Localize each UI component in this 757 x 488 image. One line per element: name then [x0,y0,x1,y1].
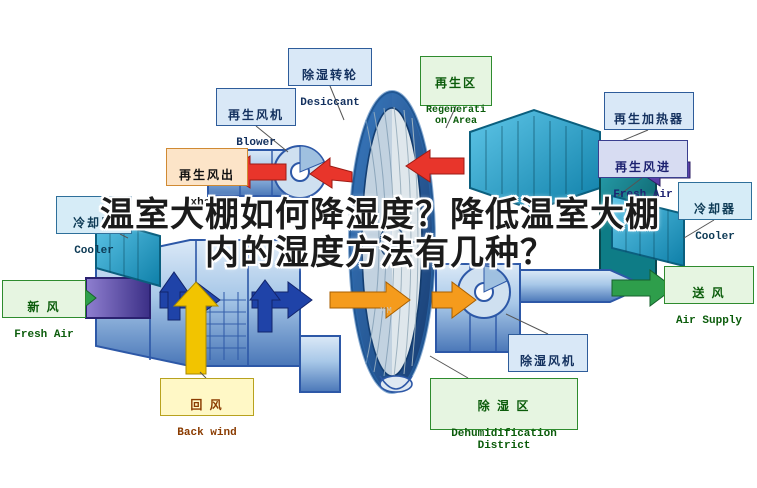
label-cooler-right-cn: 冷却器 [682,203,748,216]
label-regeneration-area: 再生区 Regenerati on Area [420,56,492,106]
label-dehumidification-district-cn: 除 湿 区 [434,400,574,413]
label-regeneration-exhaust-en: Exhaust [170,198,244,210]
label-regeneration-exhaust: 再生风出 Exhaust [166,148,248,186]
label-desiccant-wheel-en: Desiccant [292,98,368,110]
label-regeneration-heater: 再生加热器 heater [604,92,694,130]
label-regeneration-inlet-en: Fresh Air [602,190,684,202]
label-air-supply: 送 风 Air Supply [664,266,754,304]
label-air-supply-cn: 送 风 [668,287,750,300]
label-regeneration-blower: 再生风机 Blower [216,88,296,126]
label-regeneration-inlet-cn: 再生风进 [602,161,684,174]
rotor-faint-text: XM [380,306,393,316]
label-regeneration-blower-cn: 再生风机 [220,109,292,122]
diagram-canvas: XM 除湿转轮 Desiccant 再生区 Regenerati on Area… [0,0,757,488]
label-desiccant-wheel-cn: 除湿转轮 [292,69,368,82]
label-regeneration-heater-cn: 再生加热器 [608,113,690,126]
label-dehumidify-blower: 除湿风机 Blower [508,334,588,372]
label-cooler-left: 冷却器 Cooler [56,196,132,234]
label-cooler-right: 冷却器 Cooler [678,182,752,220]
label-dehumidification-district-en: Dehumidification District [434,429,574,452]
label-regeneration-area-en: Regenerati on Area [424,106,488,127]
label-back-wind: 回 风 Back wind [160,378,254,416]
label-regeneration-exhaust-cn: 再生风出 [170,169,244,182]
label-cooler-left-en: Cooler [60,246,128,258]
label-desiccant-wheel: 除湿转轮 Desiccant [288,48,372,86]
label-regeneration-area-cn: 再生区 [424,77,488,90]
label-fresh-air-cn: 新 风 [6,301,82,314]
label-regeneration-inlet: 再生风进 Fresh Air [598,140,688,178]
label-cooler-left-cn: 冷却器 [60,217,128,230]
label-back-wind-cn: 回 风 [164,399,250,412]
label-back-wind-en: Back wind [164,428,250,440]
label-fresh-air-en: Fresh Air [6,330,82,342]
label-fresh-air: 新 风 Fresh Air [2,280,86,318]
label-cooler-right-en: Cooler [682,232,748,244]
label-dehumidification-district: 除 湿 区 Dehumidification District [430,378,578,430]
label-dehumidify-blower-cn: 除湿风机 [512,355,584,368]
label-air-supply-en: Air Supply [668,316,750,328]
